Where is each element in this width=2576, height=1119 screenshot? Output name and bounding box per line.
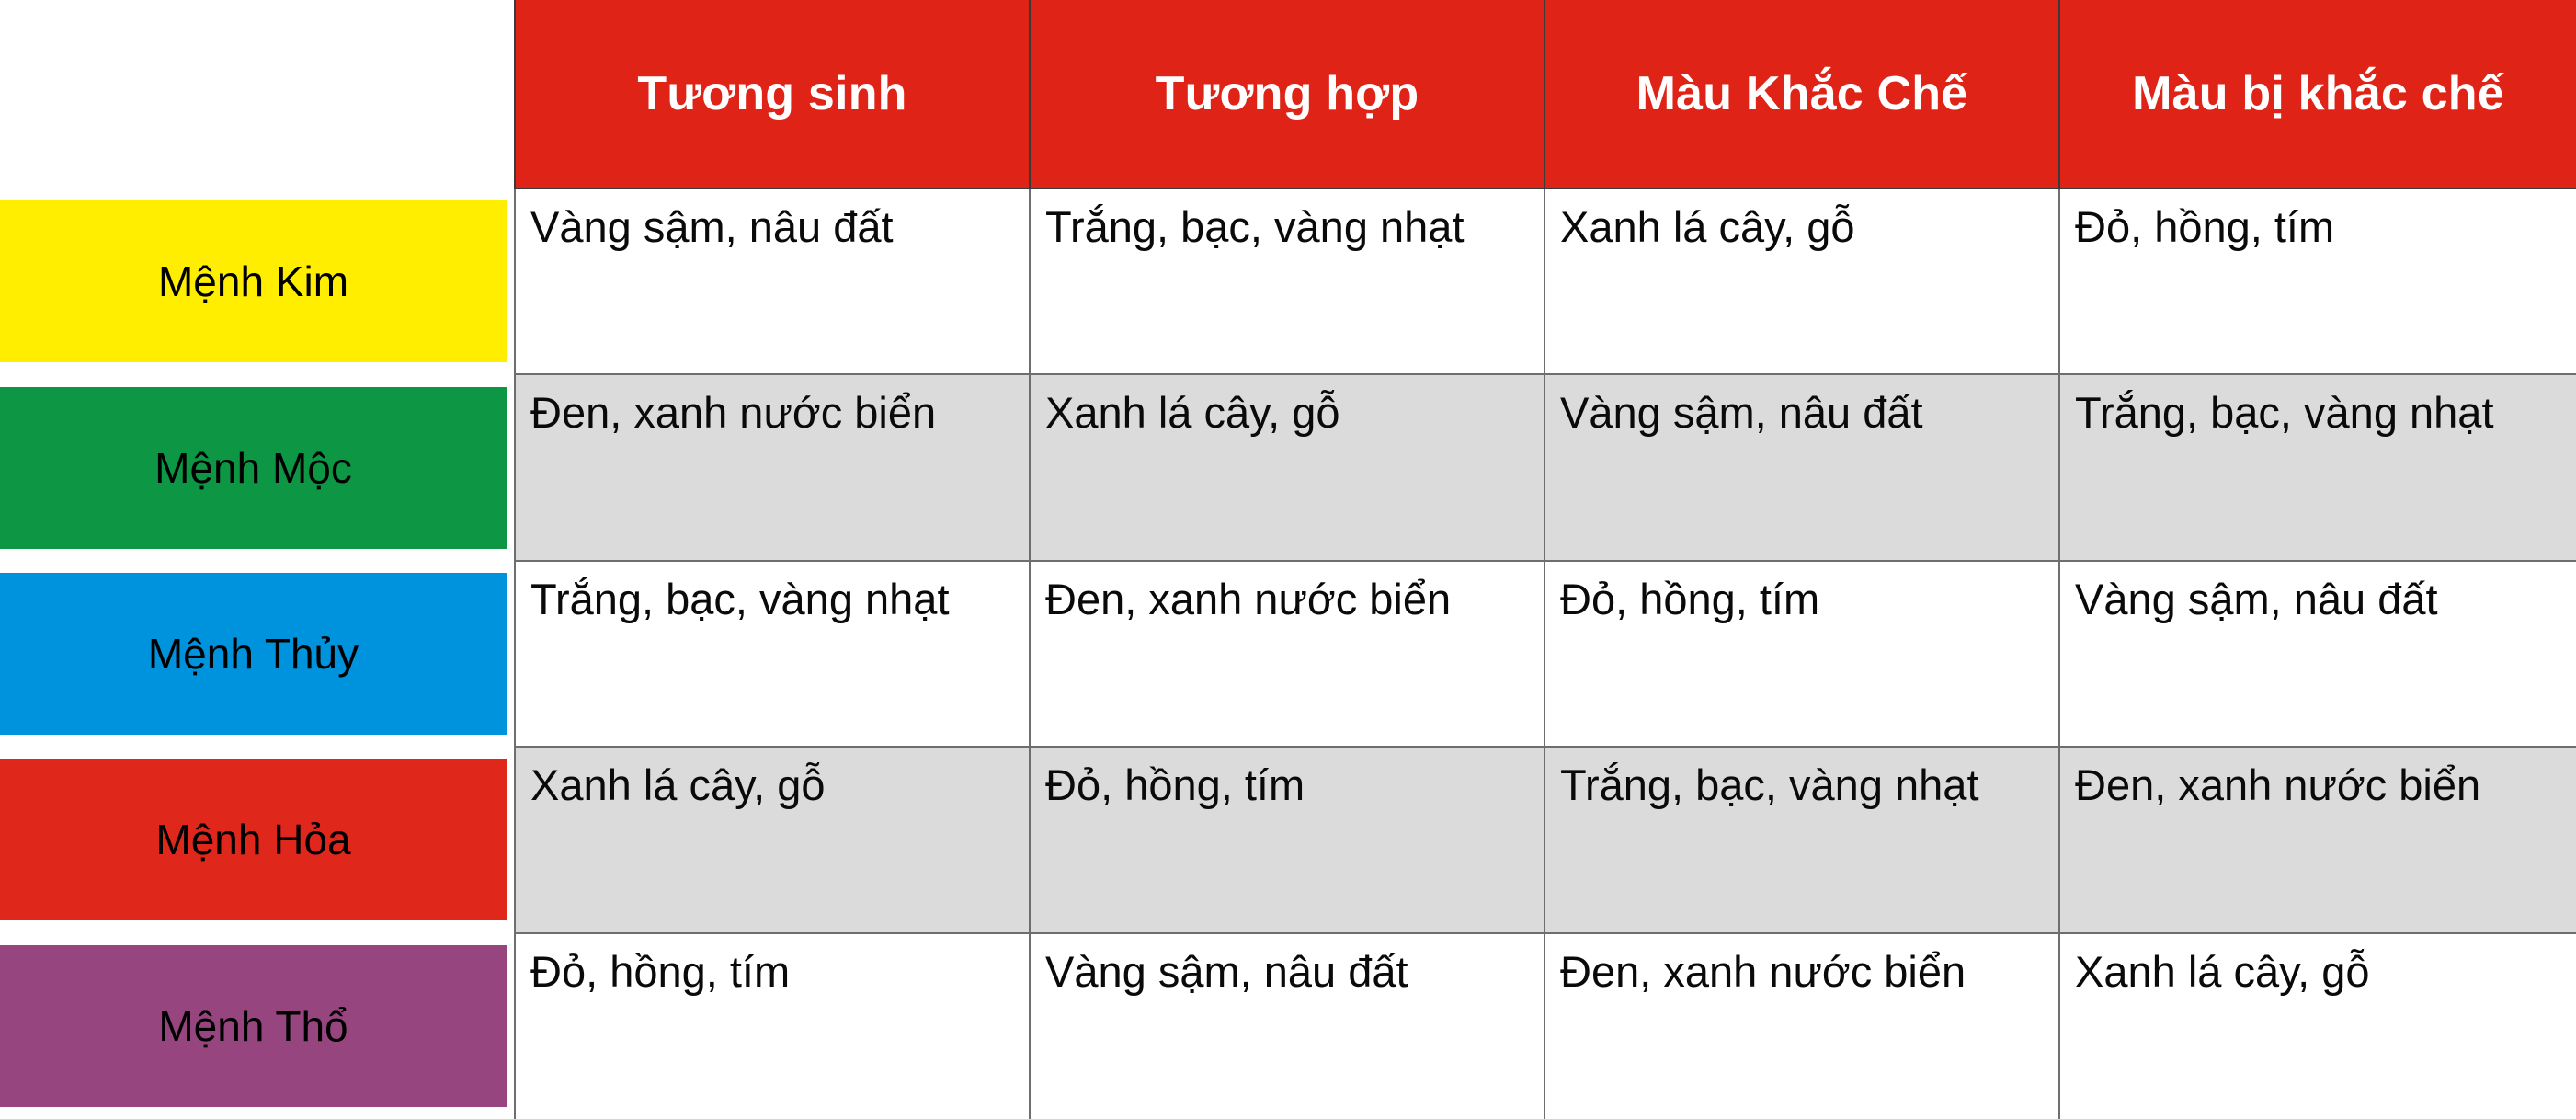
table-row: Mệnh Hỏa Xanh lá cây, gỗ Đỏ, hồng, tím T…: [0, 747, 2576, 932]
cell-thuy-tuong-hop: Đen, xanh nước biển: [1030, 561, 1544, 747]
table-row: Mệnh Kim Vàng sậm, nâu đất Trắng, bạc, v…: [0, 188, 2576, 374]
cell-tho-mau-bi-khac-che: Xanh lá cây, gỗ: [2059, 933, 2576, 1119]
table-row: Mệnh Mộc Đen, xanh nước biển Xanh lá cây…: [0, 374, 2576, 560]
table-row: Mệnh Thổ Đỏ, hồng, tím Vàng sậm, nâu đất…: [0, 933, 2576, 1119]
table-row: Mệnh Thủy Trắng, bạc, vàng nhạt Đen, xan…: [0, 561, 2576, 747]
element-label-cell-kim: Mệnh Kim: [0, 188, 515, 374]
cell-moc-mau-khac-che: Vàng sậm, nâu đất: [1544, 374, 2059, 560]
element-label-cell-moc: Mệnh Mộc: [0, 374, 515, 560]
table-body: Mệnh Kim Vàng sậm, nâu đất Trắng, bạc, v…: [0, 188, 2576, 1119]
cell-moc-mau-bi-khac-che: Trắng, bạc, vàng nhạt: [2059, 374, 2576, 560]
cell-kim-mau-bi-khac-che: Đỏ, hồng, tím: [2059, 188, 2576, 374]
cell-moc-tuong-hop: Xanh lá cây, gỗ: [1030, 374, 1544, 560]
element-name-kim: Mệnh Kim: [158, 260, 348, 303]
column-header-mau-khac-che: Màu Khắc Chế: [1544, 0, 2059, 188]
element-color-chip-thuy: Mệnh Thủy: [0, 573, 507, 735]
element-color-chip-tho: Mệnh Thổ: [0, 945, 507, 1107]
element-color-chip-kim: Mệnh Kim: [0, 200, 507, 362]
table-corner-cell: [0, 0, 515, 188]
cell-tho-mau-khac-che: Đen, xanh nước biển: [1544, 933, 2059, 1119]
element-name-thuy: Mệnh Thủy: [148, 633, 359, 675]
element-name-moc: Mệnh Mộc: [154, 447, 352, 489]
element-label-cell-thuy: Mệnh Thủy: [0, 561, 515, 747]
element-color-chip-hoa: Mệnh Hỏa: [0, 759, 507, 920]
cell-thuy-mau-bi-khac-che: Vàng sậm, nâu đất: [2059, 561, 2576, 747]
cell-kim-tuong-sinh: Vàng sậm, nâu đất: [515, 188, 1030, 374]
column-header-tuong-hop: Tương hợp: [1030, 0, 1544, 188]
cell-hoa-mau-bi-khac-che: Đen, xanh nước biển: [2059, 747, 2576, 932]
cell-thuy-mau-khac-che: Đỏ, hồng, tím: [1544, 561, 2059, 747]
element-name-hoa: Mệnh Hỏa: [155, 818, 350, 861]
fengshui-color-table: Tương sinh Tương hợp Màu Khắc Chế Màu bị…: [0, 0, 2576, 1119]
cell-kim-tuong-hop: Trắng, bạc, vàng nhạt: [1030, 188, 1544, 374]
fengshui-color-table-wrapper: Tương sinh Tương hợp Màu Khắc Chế Màu bị…: [0, 0, 2576, 1119]
cell-hoa-tuong-sinh: Xanh lá cây, gỗ: [515, 747, 1030, 932]
cell-tho-tuong-hop: Vàng sậm, nâu đất: [1030, 933, 1544, 1119]
cell-tho-tuong-sinh: Đỏ, hồng, tím: [515, 933, 1030, 1119]
column-header-tuong-sinh: Tương sinh: [515, 0, 1030, 188]
element-name-tho: Mệnh Thổ: [158, 1005, 348, 1047]
element-color-chip-moc: Mệnh Mộc: [0, 387, 507, 549]
element-label-cell-hoa: Mệnh Hỏa: [0, 747, 515, 932]
column-header-mau-bi-khac-che: Màu bị khắc chế: [2059, 0, 2576, 188]
cell-kim-mau-khac-che: Xanh lá cây, gỗ: [1544, 188, 2059, 374]
element-label-cell-tho: Mệnh Thổ: [0, 933, 515, 1119]
cell-hoa-tuong-hop: Đỏ, hồng, tím: [1030, 747, 1544, 932]
table-header-row: Tương sinh Tương hợp Màu Khắc Chế Màu bị…: [0, 0, 2576, 188]
cell-hoa-mau-khac-che: Trắng, bạc, vàng nhạt: [1544, 747, 2059, 932]
cell-thuy-tuong-sinh: Trắng, bạc, vàng nhạt: [515, 561, 1030, 747]
cell-moc-tuong-sinh: Đen, xanh nước biển: [515, 374, 1030, 560]
